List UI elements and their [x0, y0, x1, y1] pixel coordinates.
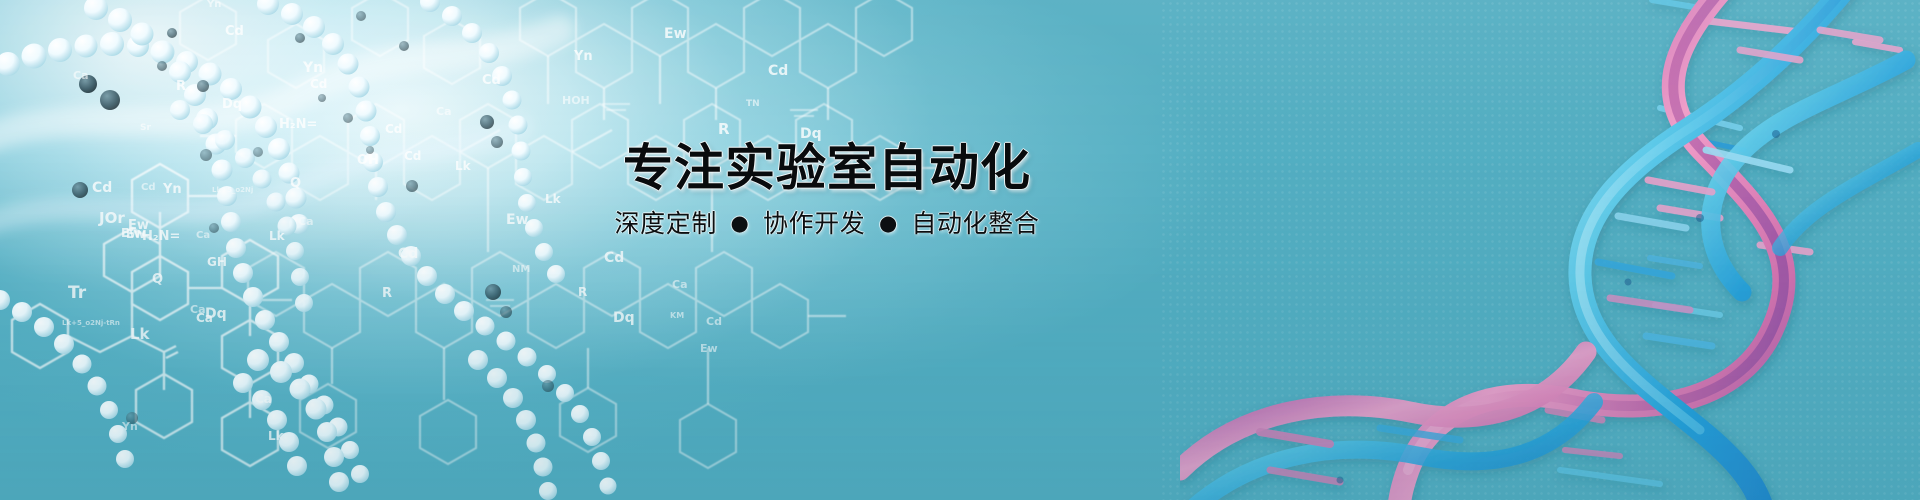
- bullet-separator-icon: ●: [726, 211, 755, 235]
- hero-banner: TrLkLk+5_o2Nj-tRnJOrH₂N=QYnCaGHCaLk+5_o2…: [0, 0, 1920, 500]
- subtitle-item-3: 自动化整合: [911, 209, 1039, 238]
- bullet-separator-icon: ●: [874, 211, 903, 235]
- subtitle-item-1: 深度定制: [615, 209, 717, 238]
- background-halftone-dots: [1160, 0, 1920, 500]
- subtitle-item-2: 协作开发: [763, 209, 865, 238]
- hero-text-block: 专注实验室自动化 深度定制 ● 协作开发 ● 自动化整合: [612, 142, 1042, 239]
- page-subtitle: 深度定制 ● 协作开发 ● 自动化整合: [612, 209, 1042, 239]
- page-title: 专注实验室自动化: [612, 142, 1042, 195]
